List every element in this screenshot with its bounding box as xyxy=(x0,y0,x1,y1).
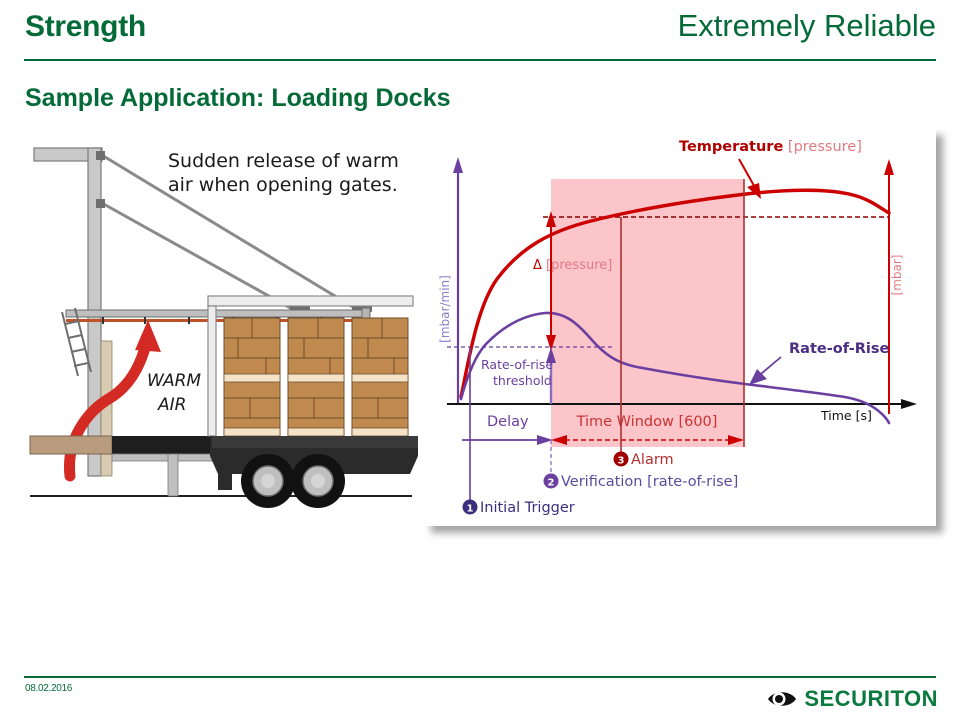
rate-of-rise-series-label: Rate-of-Rise xyxy=(789,341,890,357)
eye-icon xyxy=(767,689,797,709)
warm-air-label-line2: AIR xyxy=(157,395,186,415)
left-y-axis xyxy=(453,157,463,404)
illustration-caption-line1: Sudden release of warm xyxy=(168,150,399,172)
pallet-stack xyxy=(288,318,344,436)
brand-name: SECURITON xyxy=(804,686,938,712)
footer-divider xyxy=(24,676,936,678)
pallet-stacks xyxy=(224,318,408,436)
section-subtitle: Sample Application: Loading Docks xyxy=(25,84,451,113)
alarm-step-number: 3 xyxy=(618,456,625,467)
truck-trailer xyxy=(208,296,418,508)
temperature-series-label: Temperature [pressure] xyxy=(679,139,862,155)
securiton-logo: SECURITON xyxy=(767,686,938,712)
header-tagline: Extremely Reliable xyxy=(678,8,936,44)
pallet-stack xyxy=(224,318,280,436)
initial-trigger-label: Initial Trigger xyxy=(480,500,575,516)
delay-label: Delay xyxy=(487,414,529,430)
rate-threshold-label-line2: threshold xyxy=(493,373,552,388)
x-axis-label: Time [s] xyxy=(820,408,872,423)
alarm-marker: 3 xyxy=(614,452,629,467)
verification-step-number: 2 xyxy=(548,478,555,489)
wheel xyxy=(241,454,295,508)
left-y-axis-label: [mbar/min] xyxy=(438,275,452,343)
warm-air-label-line1: WARM xyxy=(147,371,201,391)
initial-trigger-marker: 1 xyxy=(463,500,478,515)
footer-date: 08.02.2016 xyxy=(25,683,72,694)
ladder xyxy=(62,308,91,376)
illustration-caption-line2: air when opening gates. xyxy=(168,174,398,196)
slide: Strength Extremely Reliable Sample Appli… xyxy=(0,0,960,720)
verification-marker: 2 xyxy=(544,474,559,489)
dock-platform xyxy=(30,436,212,496)
header-divider xyxy=(24,59,936,61)
delta-pressure-label: Δ [pressure] xyxy=(533,258,612,273)
delay-arrow xyxy=(462,435,553,445)
rate-of-rise-chart-panel: [mbar/min] Time [s] [mbar] xyxy=(424,128,936,526)
wheel xyxy=(291,454,345,508)
right-y-axis-label: [mbar] xyxy=(890,255,904,296)
initial-trigger-step-number: 1 xyxy=(467,504,474,515)
verification-label: Verification [rate-of-rise] xyxy=(561,474,738,490)
loading-dock-illustration: Sudden release of warm air when opening … xyxy=(22,136,420,526)
page-title: Strength xyxy=(25,10,146,44)
rate-threshold-label-line1: Rate-of-rise xyxy=(481,357,553,372)
pallet-stack xyxy=(352,318,408,436)
rate-of-rise-pointer-arrow xyxy=(749,357,781,385)
alarm-label: Alarm xyxy=(631,452,674,468)
time-window-label: Time Window [600] xyxy=(576,414,718,430)
